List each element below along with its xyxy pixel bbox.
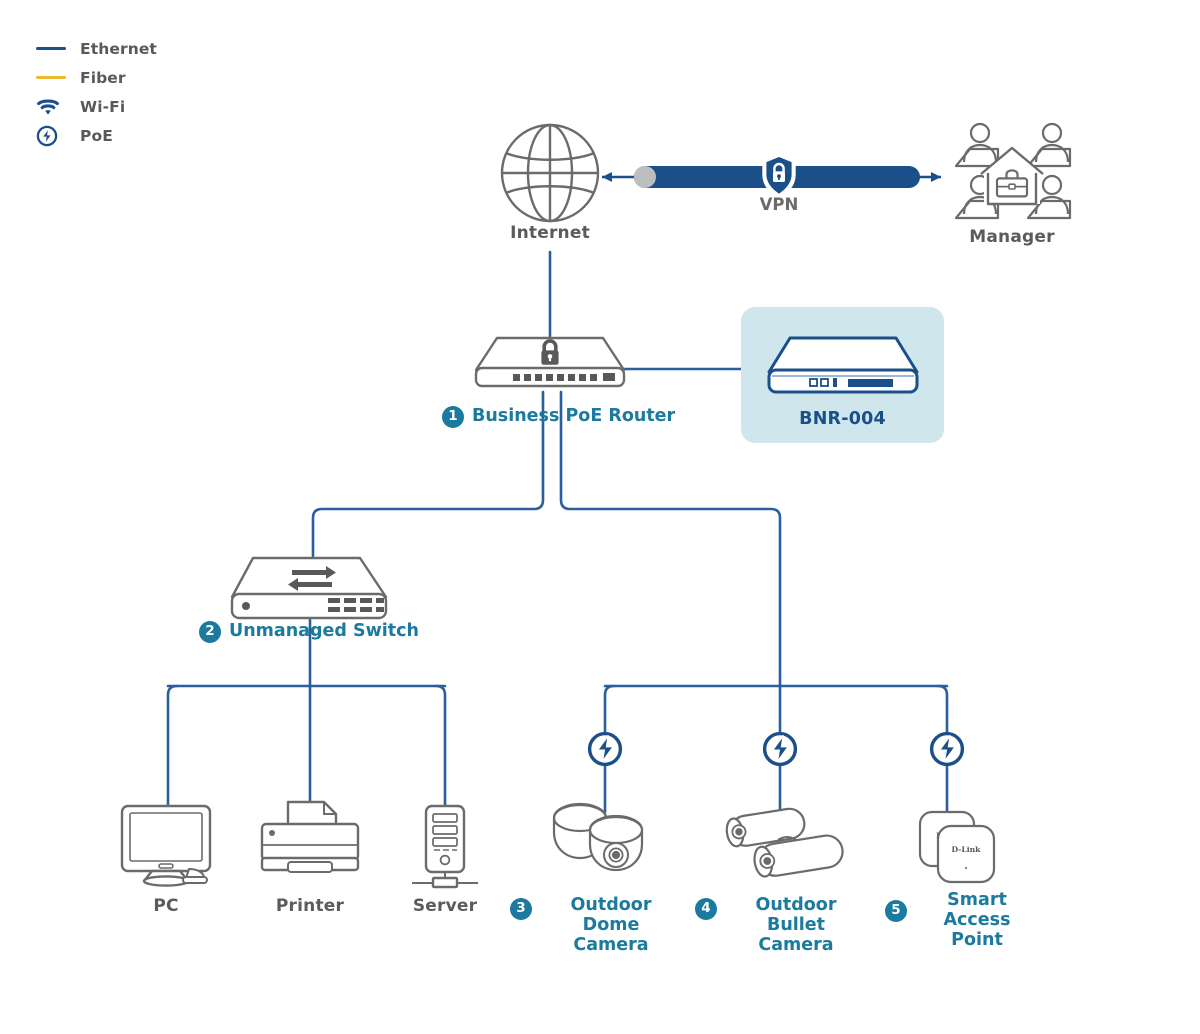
poe-devices: D D-Link	[0, 0, 1200, 1034]
network-diagram-canvas: Ethernet Fiber Wi-Fi	[0, 0, 1200, 1034]
dome-camera-label-row: 3 Outdoor Dome Camera	[510, 896, 682, 956]
dome-camera-label: Outdoor Dome Camera	[540, 896, 682, 956]
access-point-brand-text: D-Link	[952, 845, 982, 854]
bullet-camera-number-badge: 4	[695, 898, 717, 920]
bullet-camera-label: Outdoor Bullet Camera	[725, 896, 867, 956]
bullet-camera-icon	[725, 807, 845, 879]
access-point-number-badge: 5	[885, 900, 907, 922]
dome-camera-icon	[554, 804, 642, 870]
dome-camera-number-badge: 3	[510, 898, 532, 920]
access-point-label: Smart Access Point	[915, 891, 1039, 951]
bullet-camera-label-row: 4 Outdoor Bullet Camera	[695, 896, 867, 956]
access-point-icon: D D-Link	[920, 812, 994, 882]
access-point-label-row: 5 Smart Access Point	[885, 891, 1039, 951]
